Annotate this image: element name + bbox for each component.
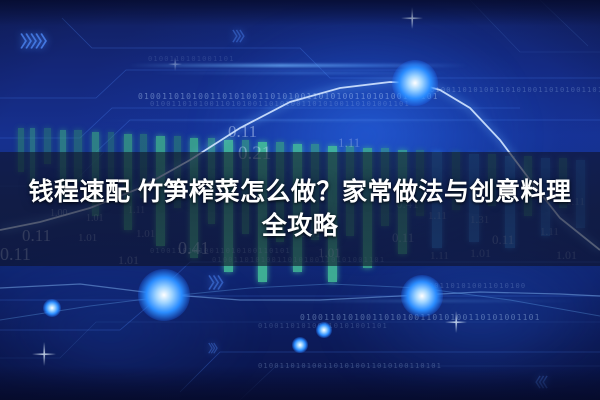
binary-digit-row: 01001101010011010100 xyxy=(418,282,526,290)
curve-peak-node xyxy=(392,60,439,107)
bottom-fade xyxy=(0,366,600,400)
binary-digit-row: 0100110101001101010011010100110101001101… xyxy=(138,92,439,101)
background-glow-lower-left xyxy=(0,250,260,400)
sparkle-star-icon xyxy=(168,57,182,71)
sparkle-star-icon xyxy=(401,7,423,29)
binary-digit-row: 0100110101001101 xyxy=(148,55,235,63)
small-node-mid xyxy=(316,322,332,338)
binary-digit-row: 0100110101001101010011010100110101001101… xyxy=(150,100,410,108)
floating-number: 1.11 xyxy=(338,135,360,151)
headline-line-1: 钱程速配 竹笋榨菜怎么做？家常做法与创意料理 xyxy=(29,176,572,208)
promo-banner: 0100110101001101010011010100110101001101… xyxy=(0,0,600,400)
light-streak xyxy=(90,120,510,121)
light-streak xyxy=(150,72,450,74)
small-node-mid2 xyxy=(292,337,308,353)
chevron-arrow-icon: 〉〉〉 xyxy=(208,272,229,293)
chevron-arrow-icon: 〉〉〉 xyxy=(208,340,221,356)
light-streak xyxy=(250,300,580,302)
sparkle-star-icon xyxy=(32,342,56,366)
chevron-arrow-icon: 〈〈〈 xyxy=(528,372,545,391)
lower-left-node xyxy=(138,269,190,321)
chevron-arrow-icon: 〉〉〉 xyxy=(232,26,249,45)
top-fade xyxy=(0,0,600,26)
binary-digit-row: 0100110101001101010011010100110101 xyxy=(258,362,442,370)
binary-digit-row: 0100110101001101010011010100110101 xyxy=(430,86,600,94)
headline-line-2: 全攻略 xyxy=(262,210,339,242)
light-streak xyxy=(128,64,468,67)
chevron-arrow-icon: 〉〉〉〉〉 xyxy=(20,28,53,52)
sparkle-star-icon xyxy=(445,311,467,333)
binary-digit-row: 0100110101001101010011010100110101001101 xyxy=(300,313,541,322)
binary-digit-row: 010011010100110101001101 xyxy=(258,322,388,330)
headline-block: 钱程速配 竹笋榨菜怎么做？家常做法与创意料理 全攻略 xyxy=(0,152,600,266)
small-node-left xyxy=(43,299,61,317)
floating-number: 0.11 xyxy=(228,122,257,142)
lower-right-node xyxy=(401,275,443,317)
